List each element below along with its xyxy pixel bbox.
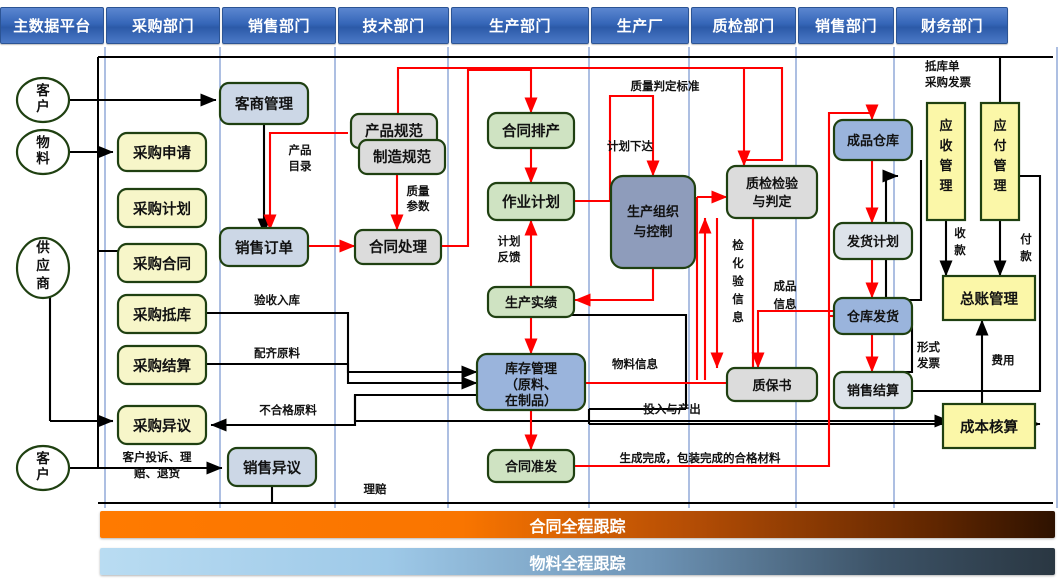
edge-label-product-info: 成品 信息: [774, 279, 797, 311]
svg-text:目录: 目录: [289, 159, 312, 173]
node-quality-inspection-line2: 与判定: [752, 194, 791, 210]
tracking-bar-material[interactable]: 物料全程跟踪: [100, 548, 1055, 575]
node-purchase-request-label: 采购申请: [132, 144, 191, 162]
svg-text:产品: 产品: [289, 143, 312, 157]
svg-text:成品: 成品: [774, 279, 797, 293]
node-sales-order-label: 销售订单: [235, 239, 293, 257]
node-purchase-contract[interactable]: 采购合同: [118, 244, 206, 282]
node-purchase-request[interactable]: 采购申请: [118, 133, 206, 171]
node-customer-vendor-mgmt-label: 客商管理: [234, 95, 293, 113]
node-contract-release-label: 合同准发: [505, 459, 558, 475]
node-shipping-plan-label: 发货计划: [846, 234, 899, 250]
node-sales-settlement-label: 销售结算: [847, 383, 899, 399]
node-receivables-mgmt-line1: 应: [939, 118, 952, 134]
node-inventory-mgmt[interactable]: 库存管理 （原料、 在制品）: [477, 354, 585, 410]
node-warehouse-shipment[interactable]: 仓库发货: [834, 298, 912, 334]
node-production-control-line2: 与控制: [633, 224, 672, 240]
node-manufacturing-spec-label: 制造规范: [373, 148, 431, 166]
svg-text:化: 化: [732, 256, 744, 270]
node-purchase-plan[interactable]: 采购计划: [118, 189, 206, 227]
node-inventory-mgmt-line1: 库存管理: [505, 361, 557, 377]
node-contract-processing[interactable]: 合同处理: [355, 230, 441, 264]
node-cost-accounting-label: 成本核算: [960, 418, 1018, 436]
edge-label-customer-complaint: 客户投诉、理 赔、退货: [122, 450, 192, 480]
edge-label-proforma-invoice: 形式 发票: [916, 340, 940, 370]
edge-label-payment: 付 款: [1020, 232, 1032, 263]
node-general-ledger[interactable]: 总账管理: [943, 276, 1035, 320]
svg-text:参数: 参数: [406, 199, 430, 213]
node-customer-vendor-mgmt[interactable]: 客商管理: [220, 83, 308, 124]
edge-label-nonconforming-material: 不合格原料: [259, 403, 317, 417]
edge-label-raw-material-ready: 配齐原料: [254, 346, 300, 360]
edge-label-product-catalog: 产品 目录: [289, 143, 312, 173]
terminator-supplier-line1: 供: [35, 239, 50, 256]
node-purchase-receipt[interactable]: 采购抵库: [118, 295, 206, 333]
edge-label-receipt-invoice: 抵库单 采购发票: [924, 59, 971, 89]
node-purchase-settlement-label: 采购结算: [132, 357, 191, 375]
terminator-customer-top[interactable]: 客 户: [17, 78, 69, 122]
node-receivables-mgmt-line4: 理: [939, 179, 952, 194]
node-receivables-mgmt[interactable]: 应 收 管 理: [927, 103, 965, 220]
node-manufacturing-spec[interactable]: 制造规范: [359, 140, 445, 174]
node-general-ledger-label: 总账管理: [960, 290, 1018, 308]
node-shipping-plan[interactable]: 发货计划: [834, 223, 912, 259]
edge-label-expense: 费用: [992, 353, 1015, 367]
edge-label-claim: 理赔: [364, 482, 387, 496]
node-payables-mgmt-line2: 付: [993, 138, 1006, 154]
node-sales-settlement[interactable]: 销售结算: [834, 372, 912, 408]
svg-text:信: 信: [732, 292, 744, 306]
node-product-spec-label: 产品规范: [365, 122, 423, 140]
svg-text:抵库单: 抵库单: [925, 59, 960, 73]
edge-label-material-info: 物料信息: [612, 357, 658, 371]
edge-label-plan-feedback: 计划 反馈: [498, 234, 521, 264]
node-quality-inspection[interactable]: 质检检验 与判定: [727, 166, 817, 218]
node-operation-plan-label: 作业计划: [502, 193, 560, 211]
terminator-material-line1: 物: [36, 134, 50, 151]
terminator-material-line2: 料: [36, 150, 50, 167]
node-purchase-plan-label: 采购计划: [132, 200, 191, 218]
tracking-bar-contract[interactable]: 合同全程跟踪: [100, 511, 1055, 538]
node-production-control[interactable]: 生产组织 与控制: [611, 176, 695, 268]
edge-label-input-output: 投入与产出: [643, 402, 701, 416]
terminator-customer-bottom[interactable]: 客 户: [17, 446, 69, 490]
svg-text:息: 息: [732, 310, 744, 324]
flow-diagram: 客 户 物 料 供 应 商 客 户 采购申请 采购计划: [0, 0, 1064, 587]
node-contract-scheduling-label: 合同排产: [501, 122, 560, 140]
svg-text:反馈: 反馈: [498, 250, 521, 264]
node-sales-order[interactable]: 销售订单: [220, 228, 308, 266]
edge-label-quality-parameters: 质量 参数: [406, 184, 430, 213]
flowchart-canvas: 主数据平台 采购部门 销售部门 技术部门 生产部门 生产厂 质检部门 销售部门 …: [0, 0, 1064, 587]
node-purchase-receipt-label: 采购抵库: [132, 306, 191, 324]
svg-text:客户投诉、理: 客户投诉、理: [122, 450, 192, 464]
node-purchase-dispute-label: 采购异议: [132, 417, 191, 435]
node-receivables-mgmt-line3: 管: [939, 158, 952, 174]
svg-text:付: 付: [1020, 232, 1032, 246]
node-finished-warehouse-label: 成品仓库: [847, 133, 899, 149]
node-inventory-mgmt-line3: 在制品）: [505, 393, 557, 409]
svg-text:检: 检: [732, 238, 744, 252]
terminator-customer-top-line1: 客: [35, 82, 50, 99]
node-cost-accounting[interactable]: 成本核算: [943, 404, 1035, 448]
terminator-supplier-line3: 商: [36, 275, 50, 292]
svg-text:赔、退货: 赔、退货: [133, 466, 180, 480]
svg-text:形式: 形式: [917, 340, 940, 354]
node-quality-certificate-label: 质保书: [752, 378, 791, 394]
node-payables-mgmt[interactable]: 应 付 管 理: [981, 103, 1019, 220]
terminator-supplier-line2: 应: [36, 257, 50, 274]
node-payables-mgmt-line4: 理: [993, 179, 1006, 194]
edge-label-plan-issued: 计划下达: [607, 139, 653, 153]
node-operation-plan[interactable]: 作业计划: [488, 183, 574, 220]
node-contract-processing-label: 合同处理: [368, 238, 427, 256]
edge-label-quality-criteria: 质量判定标准: [631, 79, 700, 93]
node-quality-inspection-line1: 质检检验: [746, 176, 799, 192]
node-warehouse-shipment-label: 仓库发货: [846, 309, 899, 325]
node-contract-release[interactable]: 合同准发: [488, 450, 574, 482]
node-sales-dispute-label: 销售异议: [243, 459, 301, 477]
node-payables-mgmt-line3: 管: [993, 158, 1006, 174]
node-purchase-settlement[interactable]: 采购结算: [118, 346, 206, 384]
node-payables-mgmt-line1: 应: [993, 118, 1006, 134]
svg-text:发票: 发票: [916, 356, 940, 370]
svg-text:款: 款: [1020, 249, 1032, 263]
node-inventory-mgmt-line2: （原料、: [505, 377, 557, 393]
svg-text:质量: 质量: [407, 184, 430, 198]
terminator-supplier[interactable]: 供 应 商: [17, 238, 69, 298]
edge-label-collection: 收 款: [954, 226, 966, 257]
node-receivables-mgmt-line2: 收: [939, 138, 953, 154]
node-production-control-line1: 生产组织: [627, 204, 679, 220]
node-purchase-dispute[interactable]: 采购异议: [118, 406, 206, 444]
node-purchase-contract-label: 采购合同: [132, 255, 191, 273]
node-production-result[interactable]: 生产实绩: [488, 287, 574, 317]
edge-label-inspection-info: 检 化 验 信 息: [732, 238, 744, 324]
svg-text:收: 收: [954, 226, 966, 240]
edge-label-goods-receipt: 验收入库: [254, 293, 300, 307]
node-contract-scheduling[interactable]: 合同排产: [488, 113, 574, 148]
edge-label-finished-qualified: 生成完成，包装完成的合格材料: [620, 451, 781, 465]
terminator-material[interactable]: 物 料: [17, 130, 69, 174]
svg-text:采购发票: 采购发票: [924, 75, 971, 89]
terminator-customer-bottom-line2: 户: [36, 466, 50, 483]
node-sales-dispute[interactable]: 销售异议: [228, 448, 316, 486]
terminator-customer-bottom-line1: 客: [35, 450, 50, 467]
svg-text:验: 验: [732, 274, 744, 288]
node-quality-certificate[interactable]: 质保书: [727, 368, 817, 401]
node-finished-warehouse[interactable]: 成品仓库: [834, 120, 912, 160]
svg-text:计划: 计划: [498, 234, 521, 248]
svg-text:款: 款: [954, 243, 966, 257]
terminator-customer-top-line2: 户: [36, 98, 50, 115]
svg-text:信息: 信息: [774, 297, 797, 311]
node-production-result-label: 生产实绩: [505, 295, 557, 311]
